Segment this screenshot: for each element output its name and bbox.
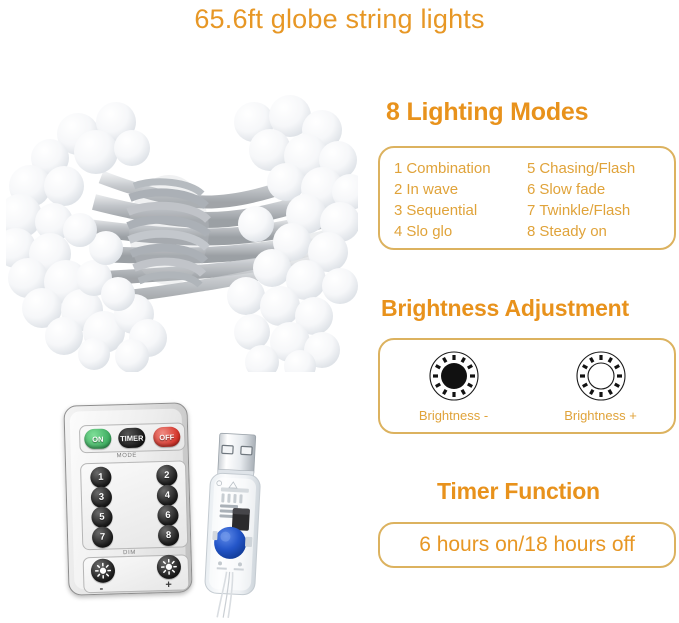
brightness-down-label: Brightness - [419, 408, 488, 423]
brightness-heading: Brightness Adjustment [381, 295, 629, 322]
mode-label: In wave [406, 181, 458, 198]
sun-icon [95, 563, 111, 579]
lighting-modes-list: 1Combination 5Chasing/Flash 2In wave 6Sl… [394, 158, 664, 242]
mode-label: Slo glo [406, 223, 452, 240]
infographic-page: 65.6ft globe string lights [0, 0, 679, 623]
mode-item: 1Combination [394, 158, 527, 179]
mode-item: 8Steady on [527, 221, 664, 242]
brightness-up-label: Brightness + [564, 408, 637, 423]
mode-number: 5 [527, 160, 535, 177]
usb-controller-plug [197, 431, 269, 622]
remote-body: ON TIMER OFF MODE 1 2 3 4 5 6 7 8 DIM [63, 402, 192, 595]
mode-item: 3Sequential [394, 200, 527, 221]
sun-icon [161, 559, 177, 575]
page-title: 65.6ft globe string lights [0, 4, 679, 35]
mode-label: Steady on [539, 223, 607, 240]
lighting-modes-heading: 8 Lighting Modes [386, 98, 588, 127]
timer-heading: Timer Function [437, 478, 600, 505]
remote-control: ON TIMER OFF MODE 1 2 3 4 5 6 7 8 DIM [63, 402, 192, 595]
dial-dim-icon [428, 350, 480, 402]
remote-face: ON TIMER OFF MODE 1 2 3 4 5 6 7 8 DIM [70, 408, 187, 589]
remote-dim-plus-symbol: + [165, 579, 172, 591]
mode-number: 6 [527, 181, 535, 198]
mode-label: Slow fade [539, 181, 605, 198]
dial-bright-icon [575, 350, 627, 402]
lighting-modes-box: 1Combination 5Chasing/Flash 2In wave 6Sl… [378, 146, 676, 250]
timer-value: 6 hours on/18 hours off [380, 524, 674, 566]
remote-dim-minus-symbol: - [99, 583, 103, 595]
mode-item: 7Twinkle/Flash [527, 200, 664, 221]
mode-label: Twinkle/Flash [539, 202, 630, 219]
mode-item: 5Chasing/Flash [527, 158, 664, 179]
mode-number: 1 [394, 160, 402, 177]
remote-on-button[interactable]: ON [84, 428, 112, 449]
globe-string-lights-bundle [6, 82, 358, 372]
mode-number: 8 [527, 223, 535, 240]
mode-number: 4 [394, 223, 402, 240]
brightness-down-control[interactable]: Brightness - [384, 350, 524, 423]
timer-box: 6 hours on/18 hours off [378, 522, 676, 568]
remote-timer-button[interactable]: TIMER [118, 427, 146, 448]
brightness-up-control[interactable]: Brightness + [531, 350, 671, 423]
remote-off-button[interactable]: OFF [153, 427, 181, 448]
brightness-box: Brightness - [378, 338, 676, 434]
mode-number: 3 [394, 202, 402, 219]
mode-item: 2In wave [394, 179, 527, 200]
mode-item: 6Slow fade [527, 179, 664, 200]
mode-label: Combination [406, 160, 490, 177]
mode-number: 7 [527, 202, 535, 219]
mode-number: 2 [394, 181, 402, 198]
mode-item: 4Slo glo [394, 221, 527, 242]
mode-label: Sequential [406, 202, 477, 219]
mode-label: Chasing/Flash [539, 160, 635, 177]
